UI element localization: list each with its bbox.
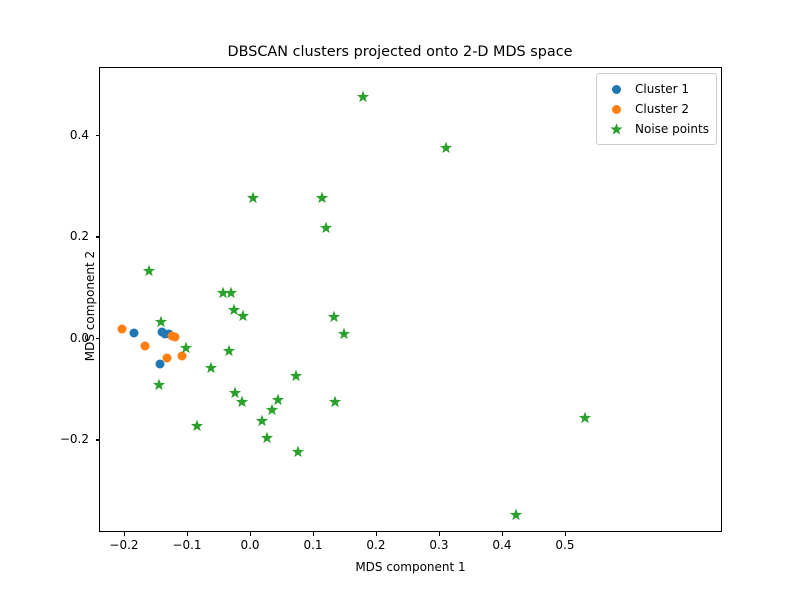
data-point xyxy=(141,341,150,350)
data-point xyxy=(170,333,179,342)
legend-item-label: Cluster 2 xyxy=(629,102,689,116)
data-point xyxy=(579,411,592,424)
y-tick-label: 0.4 xyxy=(70,128,89,142)
data-point xyxy=(222,344,235,357)
data-point xyxy=(190,420,203,433)
legend-item-label: Cluster 1 xyxy=(629,82,689,96)
x-tick-label: 0.5 xyxy=(555,538,574,552)
data-point xyxy=(154,316,167,329)
data-point xyxy=(204,362,217,375)
data-point xyxy=(155,360,164,369)
y-tick-label: −0.2 xyxy=(60,432,89,446)
y-tick-mark xyxy=(96,439,100,440)
x-tick-label: −0.1 xyxy=(172,538,201,552)
legend-item[interactable]: Cluster 1 xyxy=(603,79,709,99)
y-axis-label: MDS component 2 xyxy=(83,206,97,406)
data-point xyxy=(289,370,302,383)
x-tick-mark xyxy=(124,532,125,536)
data-point xyxy=(163,354,172,363)
legend-item[interactable]: Cluster 2 xyxy=(603,99,709,119)
x-tick-mark xyxy=(439,532,440,536)
data-point xyxy=(246,192,259,205)
data-point xyxy=(180,342,193,355)
data-point xyxy=(316,192,329,205)
x-tick-label: 0.4 xyxy=(492,538,511,552)
data-point xyxy=(319,222,332,235)
y-tick-mark xyxy=(96,135,100,136)
x-tick-mark xyxy=(187,532,188,536)
data-point xyxy=(328,311,341,324)
data-point xyxy=(236,396,249,409)
x-tick-mark xyxy=(376,532,377,536)
data-point xyxy=(261,432,274,445)
data-point xyxy=(255,414,268,427)
data-point xyxy=(509,509,522,522)
data-point xyxy=(440,141,453,154)
data-point xyxy=(357,90,370,103)
data-point xyxy=(225,287,238,300)
x-tick-label: −0.2 xyxy=(109,538,138,552)
page-title: DBSCAN clusters projected onto 2-D MDS s… xyxy=(0,44,800,60)
circle-icon xyxy=(603,79,629,99)
x-tick-label: 0.0 xyxy=(240,538,259,552)
legend-item[interactable]: Noise points xyxy=(603,119,709,139)
data-point xyxy=(329,396,342,409)
x-tick-mark xyxy=(565,532,566,536)
x-tick-label: 0.3 xyxy=(429,538,448,552)
data-point xyxy=(236,310,249,323)
circle-icon xyxy=(603,99,629,119)
data-point xyxy=(292,445,305,458)
data-point xyxy=(153,379,166,392)
data-point xyxy=(337,328,350,341)
chart-legend[interactable]: Cluster 1Cluster 2Noise points xyxy=(596,73,717,145)
x-tick-mark xyxy=(250,532,251,536)
data-point xyxy=(142,265,155,278)
x-tick-mark xyxy=(313,532,314,536)
data-point xyxy=(117,324,126,333)
star-icon xyxy=(603,119,629,139)
legend-item-label: Noise points xyxy=(629,122,709,136)
x-tick-mark xyxy=(502,532,503,536)
data-point xyxy=(265,403,278,416)
x-axis-label: MDS component 1 xyxy=(99,560,722,574)
data-point xyxy=(129,328,138,337)
x-tick-label: 0.1 xyxy=(303,538,322,552)
x-tick-label: 0.2 xyxy=(366,538,385,552)
scatter-figure: DBSCAN clusters projected onto 2-D MDS s… xyxy=(0,0,800,600)
